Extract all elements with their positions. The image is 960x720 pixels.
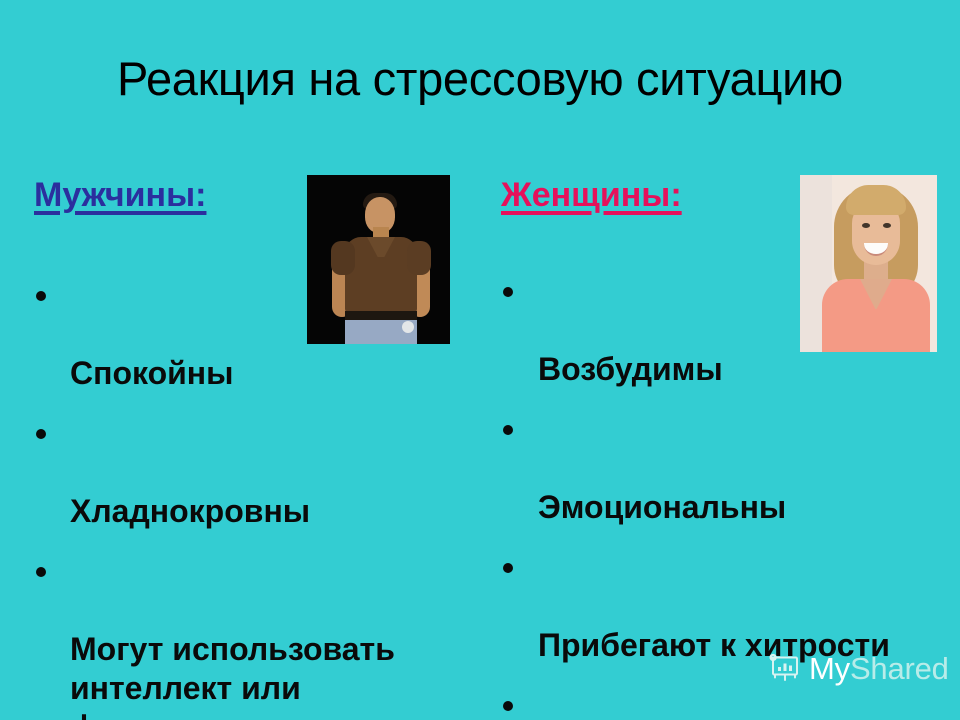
bullet-dot-icon xyxy=(36,429,46,439)
list-item-text: Спокойны xyxy=(70,355,233,391)
bullet-dot-icon xyxy=(503,287,513,297)
woman-hair-top xyxy=(846,185,906,215)
column-heading-women: Женщины: xyxy=(501,176,682,214)
list-item: Агрессивность понижена xyxy=(489,686,949,720)
woman-photo xyxy=(800,175,937,352)
woman-eye-right xyxy=(883,223,891,228)
man-hand xyxy=(402,321,414,333)
list-item: Могут использовать интеллект или физичес… xyxy=(22,552,474,720)
watermark-text: MyShared xyxy=(809,653,949,684)
list-item: Эмоциональны xyxy=(489,410,949,527)
man-belt xyxy=(345,311,417,320)
bullet-dot-icon xyxy=(36,567,46,577)
list-item-text: Могут использовать интеллект или физичес… xyxy=(70,631,395,720)
bullet-dot-icon xyxy=(36,291,46,301)
watermark: MyShared xyxy=(766,652,949,684)
man-photo xyxy=(307,175,450,344)
list-item: Хладнокровны xyxy=(22,414,474,531)
list-item: Прибегают к хитрости xyxy=(489,548,949,665)
slide-canvas: Реакция на стрессовую ситуацию Мужчины: … xyxy=(0,0,960,720)
bullet-dot-icon xyxy=(503,425,513,435)
list-item-text: Хладнокровны xyxy=(70,493,310,529)
woman-eye-left xyxy=(862,223,870,228)
watermark-brand-prefix: My xyxy=(809,651,850,686)
page-title: Реакция на стрессовую ситуацию xyxy=(0,49,960,108)
man-sleeve-left xyxy=(331,241,355,275)
bullet-dot-icon xyxy=(503,701,513,711)
list-item-text: Возбудимы xyxy=(538,351,723,387)
list-item-text: Эмоциональны xyxy=(538,489,786,525)
column-heading-men: Мужчины: xyxy=(34,176,206,214)
bullet-dot-icon xyxy=(503,563,513,573)
presentation-chart-icon xyxy=(766,652,800,684)
man-sleeve-right xyxy=(407,241,431,275)
watermark-brand-suffix: Shared xyxy=(850,651,949,686)
